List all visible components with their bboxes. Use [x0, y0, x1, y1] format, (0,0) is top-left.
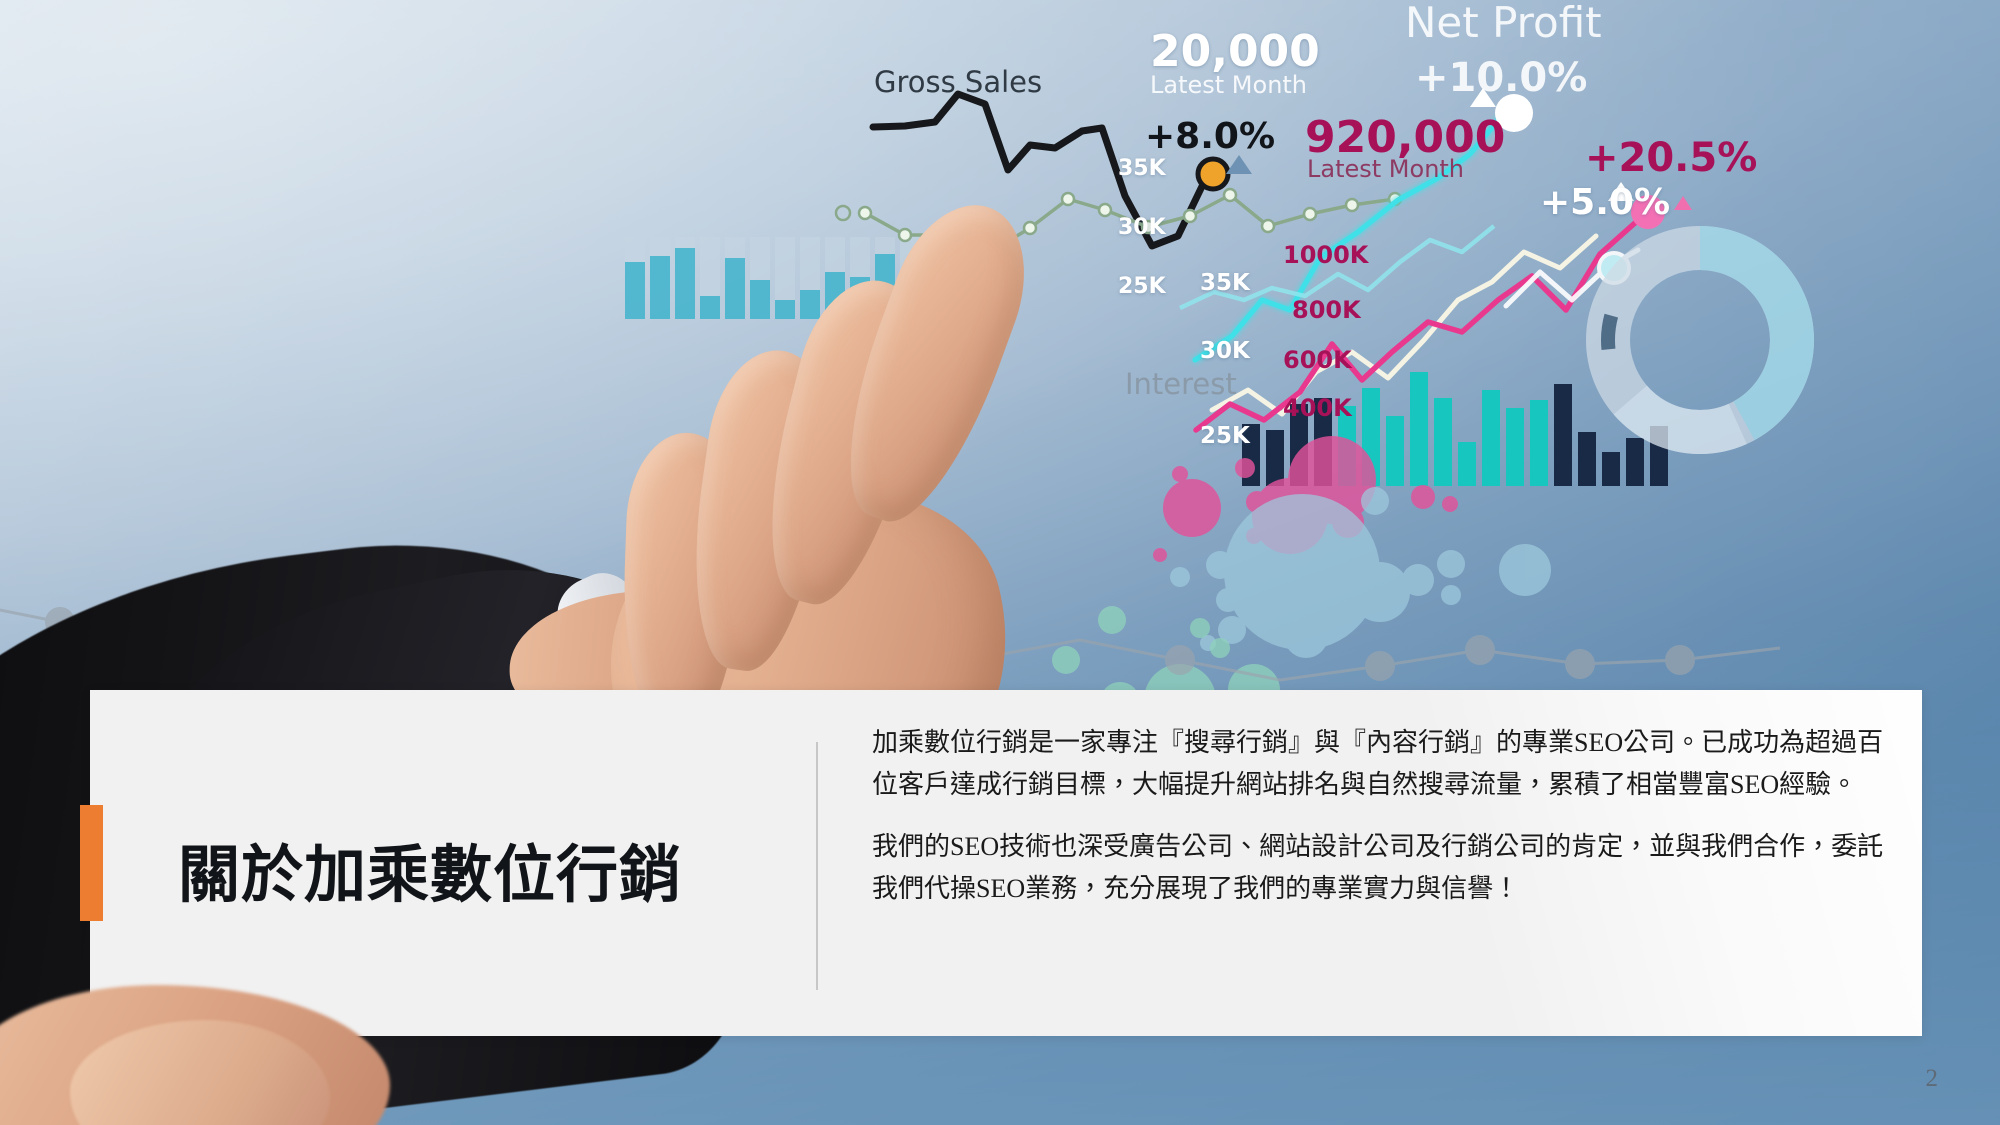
vertical-divider [816, 742, 818, 990]
body-text: 加乘數位行銷是一家專注『搜尋行銷』與『內容行銷』的專業SEO公司。已成功為超過百… [872, 722, 1902, 910]
page-number: 2 [1926, 1065, 1939, 1093]
body-paragraph-2: 我們的SEO技術也深受廣告公司、網站設計公司及行銷公司的肯定，並與我們合作，委託… [872, 826, 1902, 910]
page-title: 關於加乘數位行銷 [178, 840, 758, 913]
accent-bar [80, 805, 103, 921]
body-paragraph-1: 加乘數位行銷是一家專注『搜尋行銷』與『內容行銷』的專業SEO公司。已成功為超過百… [872, 722, 1902, 806]
slide-canvas: Gross Sales Interest Net Profit 20,000 L… [0, 0, 2000, 1125]
